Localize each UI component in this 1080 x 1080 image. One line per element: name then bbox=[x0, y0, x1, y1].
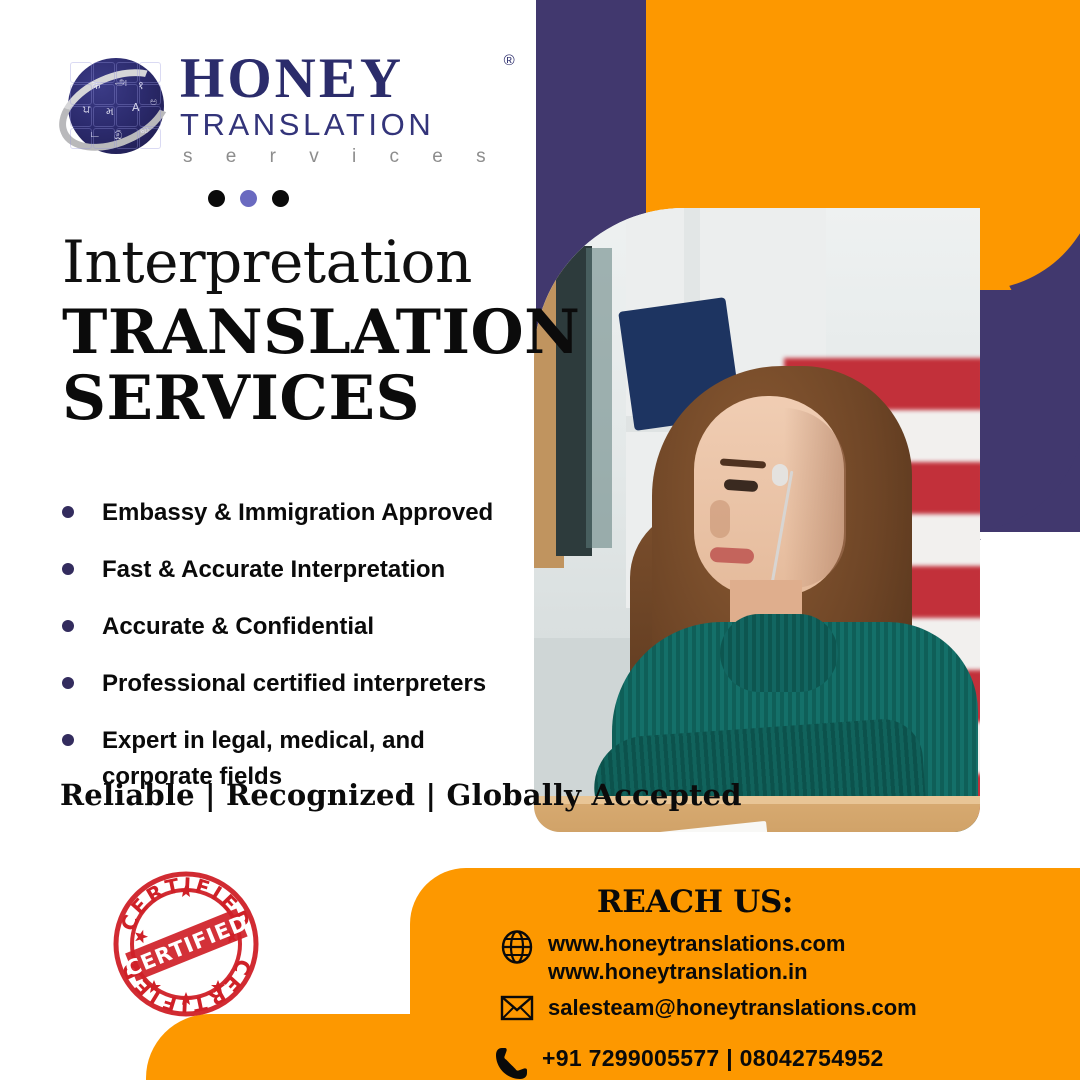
phone-icon bbox=[490, 1044, 532, 1080]
globe-facet bbox=[139, 84, 161, 105]
globe-facet bbox=[139, 62, 161, 83]
dot-3 bbox=[272, 190, 289, 207]
brand-name-primary-text: HONEY bbox=[180, 47, 404, 110]
hero-photo bbox=[534, 208, 980, 832]
envelope-icon bbox=[496, 994, 538, 1022]
photo-nose bbox=[710, 500, 730, 538]
photo-lips bbox=[710, 547, 755, 564]
globe-facet bbox=[93, 106, 115, 127]
website-line-1: www.honeytranslations.com bbox=[548, 931, 845, 956]
feature-list-item: Professional certified interpreters bbox=[56, 666, 536, 702]
feature-list-item: Embassy & Immigration Approved bbox=[56, 495, 536, 531]
poster-canvas: कஅ१ਪમAಅடඕல HONEY ® TRANSLATION s e r v i… bbox=[0, 0, 1080, 1080]
brand-name-secondary: TRANSLATION bbox=[180, 107, 500, 144]
bullet-dot-icon bbox=[62, 506, 74, 518]
globe-facet bbox=[139, 128, 161, 149]
feature-list-item-label: Professional certified interpreters bbox=[102, 666, 486, 702]
globe-facet bbox=[93, 128, 115, 149]
globe-facet bbox=[116, 128, 138, 149]
dot-2 bbox=[240, 190, 257, 207]
globe-facet bbox=[116, 62, 138, 83]
feature-list-item-label: Embassy & Immigration Approved bbox=[102, 495, 493, 531]
decorative-dots bbox=[208, 190, 289, 207]
tagline: Reliable | Recognized | Globally Accepte… bbox=[60, 778, 742, 812]
contact-section: REACH US: www.honeytranslations.com www.… bbox=[410, 868, 1080, 1080]
feature-list-item: Accurate & Confidential bbox=[56, 609, 536, 645]
globe-facet bbox=[93, 84, 115, 105]
contact-row-website[interactable]: www.honeytranslations.com www.honeytrans… bbox=[496, 930, 845, 985]
page-title: Interpretation TRANSLATION SERVICES bbox=[62, 232, 580, 432]
globe-icon bbox=[496, 930, 538, 964]
brand-name-tertiary: s e r v i c e s bbox=[180, 143, 500, 172]
photo-door-glass bbox=[586, 248, 612, 548]
feature-list: Embassy & Immigration ApprovedFast & Acc… bbox=[56, 495, 536, 816]
contact-website-text: www.honeytranslations.com www.honeytrans… bbox=[548, 930, 845, 985]
headline-main: TRANSLATION SERVICES bbox=[62, 300, 580, 432]
bullet-dot-icon bbox=[62, 563, 74, 575]
brand-wordmark: HONEY ® TRANSLATION s e r v i c e s bbox=[180, 48, 500, 172]
dot-1 bbox=[208, 190, 225, 207]
photo-headset-earpiece bbox=[772, 464, 788, 486]
brand-logo[interactable]: कஅ१ਪમAಅடඕல HONEY ® TRANSLATION s e r v i… bbox=[56, 48, 500, 172]
globe-facet bbox=[116, 106, 138, 127]
brand-name-primary: HONEY ® bbox=[180, 52, 500, 107]
globe-facet bbox=[70, 128, 92, 149]
photo-eye bbox=[724, 479, 759, 492]
contact-row-phone[interactable]: +91 7299005577 | 08042754952 bbox=[490, 1044, 884, 1080]
website-line-2: www.honeytranslation.in bbox=[548, 959, 808, 984]
feature-list-item: Fast & Accurate Interpretation bbox=[56, 552, 536, 588]
contact-email-text: salesteam@honeytranslations.com bbox=[548, 994, 917, 1022]
feature-list-item-label: Accurate & Confidential bbox=[102, 609, 374, 645]
certified-stamp-icon: CERTIFIED CERTIFIED CERTIFIED bbox=[110, 868, 262, 1018]
feature-list-item-label: Fast & Accurate Interpretation bbox=[102, 552, 445, 588]
globe-languages-icon: कஅ१ਪમAಅடඕல bbox=[56, 48, 174, 170]
bullet-dot-icon bbox=[62, 620, 74, 632]
headline-main-line-1: TRANSLATION bbox=[62, 300, 580, 366]
headline-main-line-2: SERVICES bbox=[62, 366, 580, 432]
globe-facet bbox=[70, 84, 92, 105]
globe-facet bbox=[70, 106, 92, 127]
contact-row-email[interactable]: salesteam@honeytranslations.com bbox=[496, 994, 917, 1022]
registered-trademark-icon: ® bbox=[504, 54, 518, 68]
globe-facet bbox=[93, 62, 115, 83]
bullet-dot-icon bbox=[62, 734, 74, 746]
contact-heading: REACH US: bbox=[410, 884, 980, 920]
globe-facet bbox=[139, 106, 161, 127]
headline-script-line: Interpretation bbox=[62, 232, 580, 292]
photo-turtleneck-collar bbox=[720, 614, 838, 692]
globe-facet bbox=[70, 62, 92, 83]
bullet-dot-icon bbox=[62, 677, 74, 689]
certified-stamp-svg: CERTIFIED CERTIFIED CERTIFIED bbox=[110, 868, 262, 1018]
contact-phone-text: +91 7299005577 | 08042754952 bbox=[542, 1044, 884, 1073]
globe-facet bbox=[116, 84, 138, 105]
